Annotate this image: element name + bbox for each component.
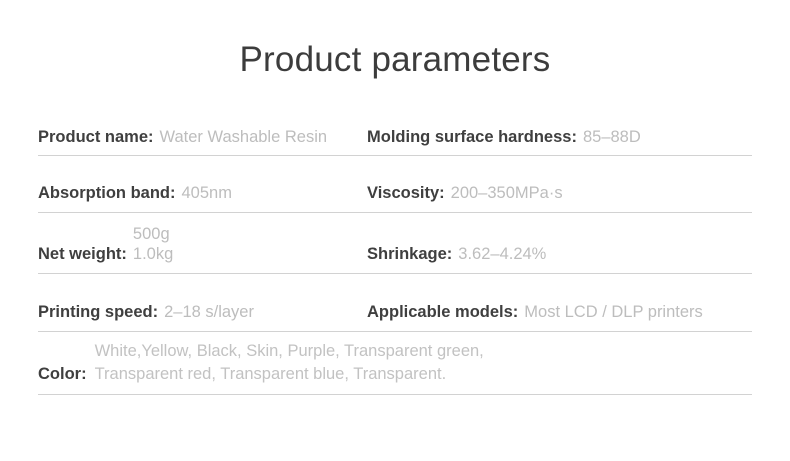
- spec-label-viscosity: Viscosity:: [367, 184, 445, 204]
- spec-cell-color: Color: White,Yellow, Black, Skin, Purple…: [38, 340, 752, 385]
- spec-cell-molding-surface-hardness: Molding surface hardness: 85–88D: [367, 128, 752, 148]
- spec-label-product-name: Product name:: [38, 128, 154, 148]
- spec-row-product-name: Product name: Water Washable Resin Moldi…: [38, 118, 752, 156]
- spec-value-molding-surface-hardness: 85–88D: [583, 128, 641, 148]
- spec-label-color: Color:: [38, 365, 87, 385]
- spec-cell-net-weight: Net weight: 500g 1.0kg: [38, 225, 367, 265]
- spec-label-printing-speed: Printing speed:: [38, 303, 158, 323]
- spec-row-absorption-band: Absorption band: 405nm Viscosity: 200–35…: [38, 156, 752, 213]
- spec-cell-shrinkage: Shrinkage: 3.62–4.24%: [367, 245, 752, 265]
- spec-value-applicable-models: Most LCD / DLP printers: [524, 303, 703, 323]
- spec-label-applicable-models: Applicable models:: [367, 303, 518, 323]
- spec-cell-absorption-band: Absorption band: 405nm: [38, 184, 367, 204]
- spec-row-color: Color: White,Yellow, Black, Skin, Purple…: [38, 332, 752, 395]
- spec-value-net-weight-stack: 500g 1.0kg: [133, 225, 173, 265]
- spec-row-net-weight: Net weight: 500g 1.0kg Shrinkage: 3.62–4…: [38, 213, 752, 274]
- spec-label-absorption-band: Absorption band:: [38, 184, 175, 204]
- spec-label-net-weight: Net weight:: [38, 245, 127, 265]
- spec-value-viscosity: 200–350MPa·s: [451, 184, 563, 204]
- product-parameters-page: Product parameters Product name: Water W…: [0, 0, 790, 461]
- spec-cell-product-name: Product name: Water Washable Resin: [38, 128, 367, 148]
- spec-value-net-weight-500g: 500g: [133, 225, 173, 245]
- spec-label-molding-surface-hardness: Molding surface hardness:: [367, 128, 577, 148]
- spec-value-color-line-1: White,Yellow, Black, Skin, Purple, Trans…: [95, 340, 484, 362]
- spec-value-color-line-2: Transparent red, Transparent blue, Trans…: [95, 363, 484, 385]
- spec-value-absorption-band: 405nm: [181, 184, 231, 204]
- spec-value-product-name: Water Washable Resin: [160, 128, 328, 148]
- spec-cell-printing-speed: Printing speed: 2–18 s/layer: [38, 303, 367, 323]
- spec-value-printing-speed: 2–18 s/layer: [164, 303, 254, 323]
- spec-value-color: White,Yellow, Black, Skin, Purple, Trans…: [95, 340, 484, 385]
- spec-cell-viscosity: Viscosity: 200–350MPa·s: [367, 184, 752, 204]
- spec-table: Product name: Water Washable Resin Moldi…: [38, 118, 752, 395]
- spec-label-shrinkage: Shrinkage:: [367, 245, 452, 265]
- page-title: Product parameters: [0, 40, 790, 80]
- spec-value-net-weight-1kg: 1.0kg: [133, 245, 173, 265]
- spec-value-shrinkage: 3.62–4.24%: [458, 245, 546, 265]
- spec-row-printing-speed: Printing speed: 2–18 s/layer Applicable …: [38, 274, 752, 332]
- spec-cell-applicable-models: Applicable models: Most LCD / DLP printe…: [367, 303, 752, 323]
